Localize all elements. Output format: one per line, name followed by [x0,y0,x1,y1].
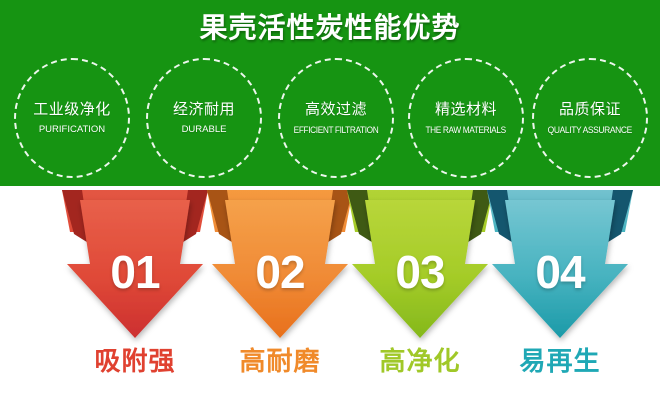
arrow-item-04[interactable]: 04 易再生 [485,186,635,400]
badge-label-cn: 品质保证 [559,100,621,120]
arrow-item-03[interactable]: 03 高净化 [345,186,495,400]
down-arrow-icon [345,186,495,356]
arrow-item-01[interactable]: 01 吸附强 [60,186,210,400]
badge-label-en: QUALITY ASSURANCE [548,123,632,137]
badge-quality-assurance: 品质保证 QUALITY ASSURANCE [532,58,648,178]
badge-label-en: PURIFICATION [39,123,105,137]
header-band: 果壳活性炭性能优势 工业级净化 PURIFICATION 经济耐用 DURABL… [0,0,660,186]
badge-label-cn: 精选材料 [435,100,497,120]
badge-label-en: THE RAW MATERIALS [426,123,506,137]
badge-label-en: EFFICIENT FILTRATION [294,123,379,137]
badge-efficient-filtration: 高效过滤 EFFICIENT FILTRATION [278,58,394,178]
badge-durable: 经济耐用 DURABLE [146,58,262,178]
badge-label-cn: 工业级净化 [33,100,111,120]
badge-label-cn: 高效过滤 [305,100,367,120]
arrow-label: 易再生 [477,344,643,378]
badge-purification: 工业级净化 PURIFICATION [14,58,130,178]
badge-label-en: DURABLE [182,123,227,137]
page-title: 果壳活性炭性能优势 [0,9,660,47]
down-arrow-icon [485,186,635,356]
badge-raw-materials: 精选材料 THE RAW MATERIALS [408,58,524,178]
badge-label-cn: 经济耐用 [173,100,235,120]
infographic-stage: 果壳活性炭性能优势 工业级净化 PURIFICATION 经济耐用 DURABL… [0,0,660,400]
arrow-item-02[interactable]: 02 高耐磨 [205,186,355,400]
arrow-row: 01 吸附强 [0,186,660,400]
down-arrow-icon [60,186,210,356]
down-arrow-icon [205,186,355,356]
arrow-label: 吸附强 [52,344,218,378]
badge-row: 工业级净化 PURIFICATION 经济耐用 DURABLE 高效过滤 EFF… [0,58,660,180]
